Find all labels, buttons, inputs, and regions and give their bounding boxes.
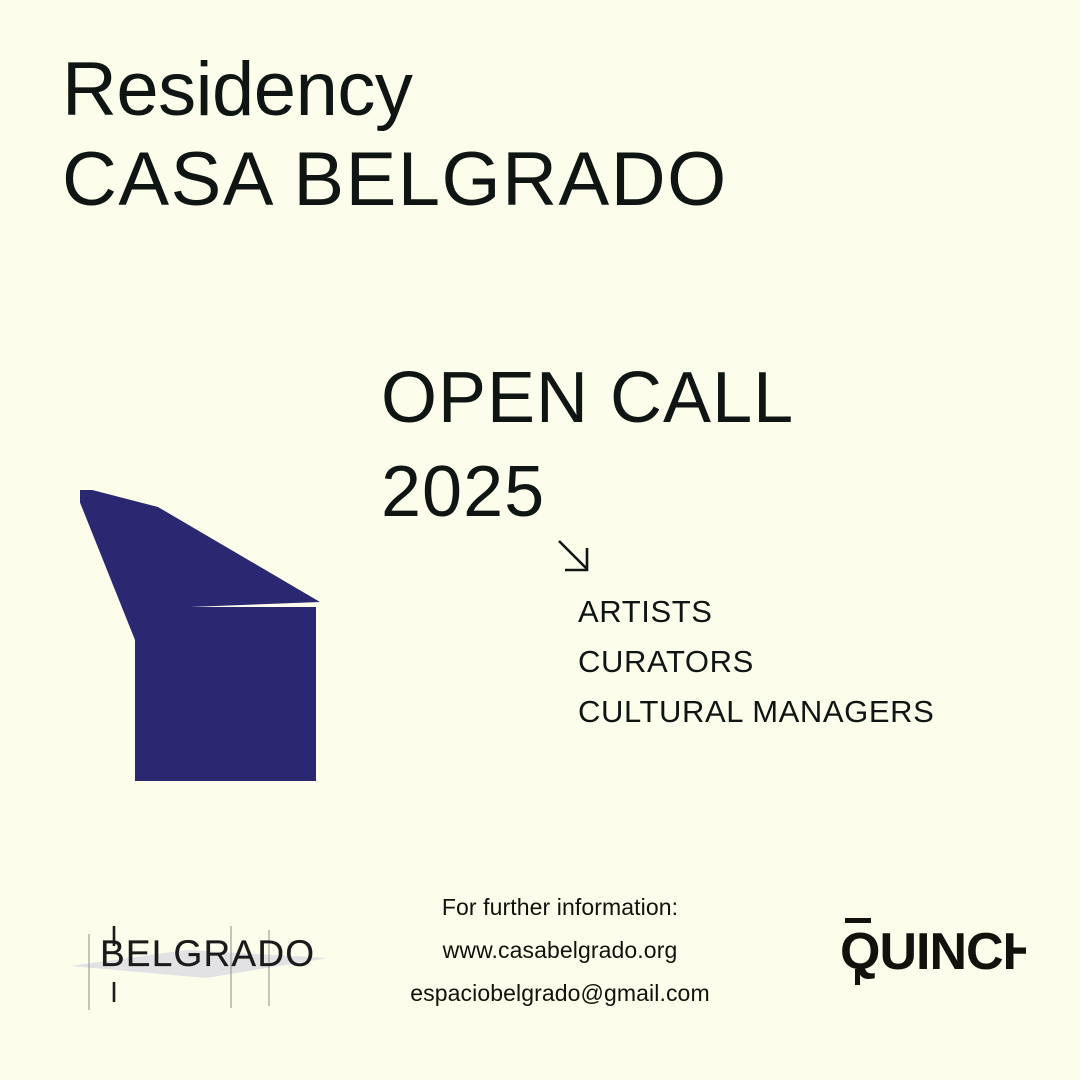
footer-website-link[interactable]: www.casabelgrado.org [360, 939, 760, 962]
footer-contact-info: For further information: www.casabelgrad… [360, 896, 760, 1005]
blue-arrow-shape [80, 490, 330, 790]
headline-casa-belgrado: CASA BELGRADO [62, 142, 728, 218]
footer-email-link[interactable]: espaciobelgrado@gmail.com [360, 982, 760, 1005]
headline-residency: Residency [62, 52, 728, 128]
belgrado-wordmark: BELGRADO [100, 933, 315, 974]
audience-item-artists: ARTISTS [578, 596, 934, 627]
page-title: Residency CASA BELGRADO [62, 52, 728, 218]
quincho-logo: QUINCHO [840, 915, 1026, 995]
poster-canvas: Residency CASA BELGRADO OPEN CALL 2025 A… [0, 0, 1080, 1080]
blue-arrow-path [80, 490, 320, 781]
open-call-line-1: OPEN CALL [381, 362, 794, 434]
belgrado-logo: BELGRADO [66, 898, 336, 1023]
arrow-down-right-icon [556, 538, 594, 576]
open-call-line-2: 2025 [381, 456, 794, 528]
audience-list: ARTISTS CURATORS CULTURAL MANAGERS [578, 596, 934, 727]
blue-arrow-block [80, 490, 330, 790]
audience-item-cultural-managers: CULTURAL MANAGERS [578, 696, 934, 727]
open-call-heading: OPEN CALL 2025 [381, 362, 794, 528]
audience-item-curators: CURATORS [578, 646, 934, 677]
quincho-q-tail-icon [855, 969, 860, 985]
footer-info-label: For further information: [360, 896, 760, 919]
quincho-wordmark: QUINCHO [840, 923, 1026, 981]
